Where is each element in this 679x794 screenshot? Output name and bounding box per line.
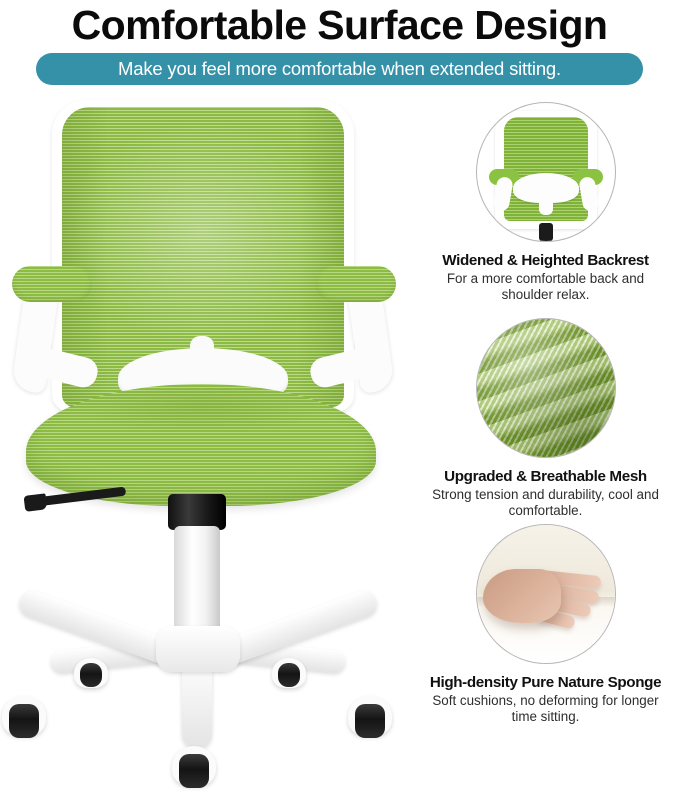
thumb-center-post: [539, 223, 553, 241]
caster-tire: [355, 704, 385, 738]
feature-description: Strong tension and durability, cool and …: [412, 487, 679, 519]
armrest-pad: [316, 266, 396, 302]
armrest-right: [312, 266, 404, 396]
feature-title: High-density Pure Nature Sponge: [412, 674, 679, 691]
feature-title: Widened & Heighted Backrest: [412, 252, 679, 269]
thumb-lumbar-yoke: [513, 173, 579, 203]
feature-list: Widened & Heighted Backrest For a more c…: [412, 96, 679, 726]
subtitle-banner: Make you feel more comfortable when exte…: [36, 53, 643, 85]
base-hub: [156, 626, 240, 672]
feature-thumbnail-mesh: [476, 318, 616, 458]
feature-description: For a more comfortable back and shoulder…: [412, 271, 679, 303]
caster-wheel: [348, 696, 392, 744]
feature-title: Upgraded & Breathable Mesh: [412, 468, 679, 485]
caster-wheel: [74, 658, 108, 692]
caster-tire: [9, 704, 39, 738]
armrest-left: [4, 266, 96, 396]
cylinder-collar: [168, 494, 226, 530]
armrest-pad: [12, 266, 92, 302]
feature-thumbnail-backrest: [476, 102, 616, 242]
caster-wheel: [172, 746, 216, 794]
feature-item-sponge: High-density Pure Nature Sponge Soft cus…: [412, 524, 679, 725]
product-image-office-chair: [0, 96, 412, 726]
caster-wheel: [272, 658, 306, 692]
thumb-hand-palm: [483, 569, 561, 623]
feature-item-mesh: Upgraded & Breathable Mesh Strong tensio…: [412, 318, 679, 519]
page-title: Comfortable Surface Design: [0, 2, 679, 48]
caster-tire: [80, 663, 102, 687]
gas-cylinder: [174, 526, 220, 638]
feature-item-backrest: Widened & Heighted Backrest For a more c…: [412, 102, 679, 303]
subtitle-text: Make you feel more comfortable when exte…: [118, 58, 561, 80]
caster-tire: [179, 754, 209, 788]
caster-tire: [278, 663, 300, 687]
header: Comfortable Surface Design Make you feel…: [0, 0, 679, 96]
feature-thumbnail-sponge: [476, 524, 616, 664]
caster-wheel: [2, 696, 46, 744]
feature-description: Soft cushions, no deforming for longer t…: [412, 693, 679, 725]
thumb-mesh-shading: [477, 319, 615, 457]
